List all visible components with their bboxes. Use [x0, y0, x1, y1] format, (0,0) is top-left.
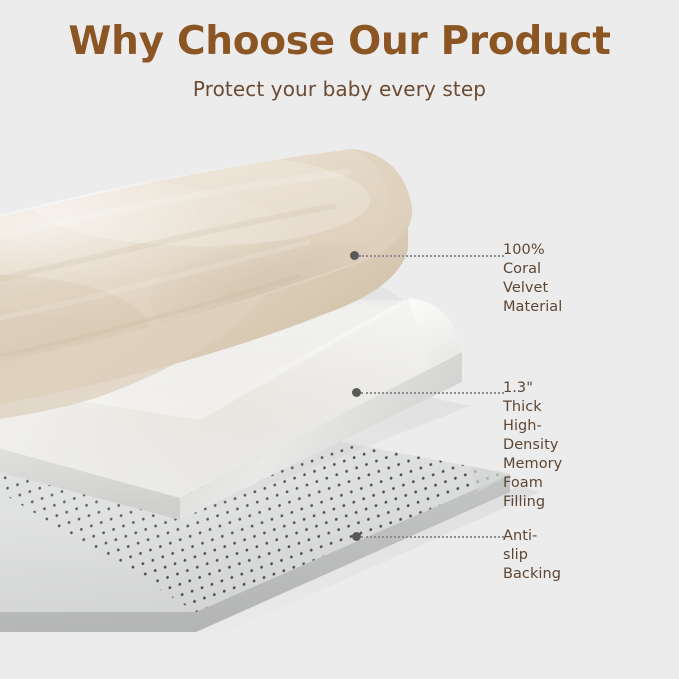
- callout-leader-anti-slip: [361, 536, 504, 538]
- header: Why Choose Our Product Protect your baby…: [0, 0, 679, 101]
- callout-dot-anti-slip: [352, 532, 361, 541]
- product-layer-illustration: [0, 0, 679, 679]
- callout-label-anti-slip: Anti-slip Backing: [503, 527, 561, 584]
- callout-dot-coral-velvet: [350, 251, 359, 260]
- callout-leader-coral-velvet: [359, 255, 504, 257]
- page-subtitle: Protect your baby every step: [0, 64, 679, 101]
- callout-label-coral-velvet: 100% Coral Velvet Material: [503, 241, 562, 317]
- callout-dot-memory-foam: [352, 388, 361, 397]
- infographic-canvas: Why Choose Our Product Protect your baby…: [0, 0, 679, 679]
- page-title: Why Choose Our Product: [0, 0, 679, 64]
- callout-leader-memory-foam: [361, 392, 504, 394]
- callout-label-memory-foam: 1.3" Thick High-Density Memory Foam Fill…: [503, 379, 562, 512]
